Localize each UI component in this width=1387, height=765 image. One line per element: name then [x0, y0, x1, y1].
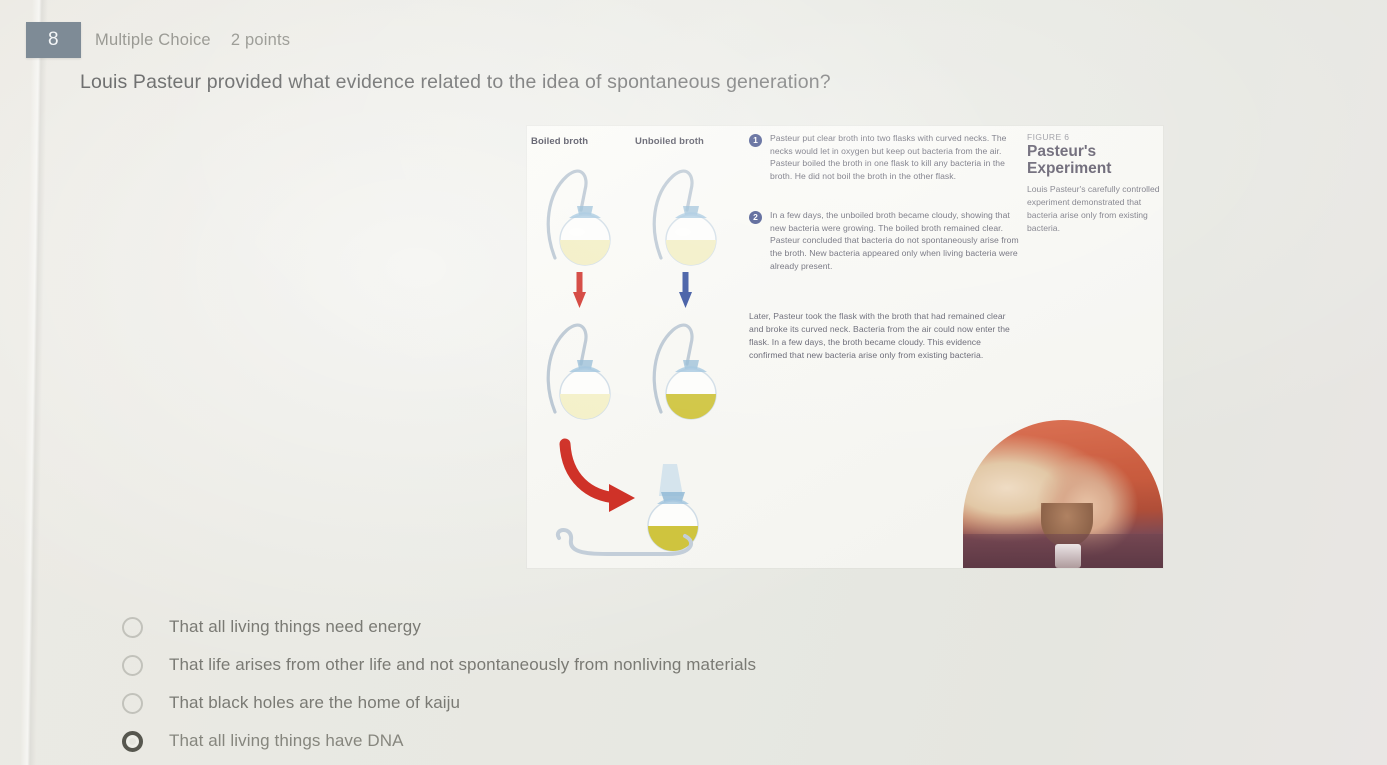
arrow-down-red-icon — [573, 272, 586, 308]
answer-option-1[interactable]: That all living things need energy — [118, 608, 1018, 646]
question-header: 8 Multiple Choice 2 points — [26, 22, 290, 58]
figure-caption-text: Louis Pasteur's carefully controlled exp… — [1027, 183, 1163, 235]
figure-caption-column: FIGURE 6 Pasteur's Experiment Louis Past… — [1027, 132, 1163, 235]
figure-eyebrow: FIGURE 6 — [1027, 132, 1163, 142]
figure-step-3: Later, Pasteur took the flask with the b… — [749, 310, 1019, 361]
label-boiled-broth: Boiled broth — [531, 136, 588, 147]
radio-button-2[interactable] — [122, 655, 143, 676]
figure-steps-column: 1 Pasteur put clear broth into two flask… — [749, 132, 1019, 379]
radio-button-1[interactable] — [122, 617, 143, 638]
portrait-glassware — [1055, 544, 1081, 568]
pasteur-portrait-photo — [963, 420, 1163, 568]
figure-image[interactable]: Boiled broth Unboiled broth — [527, 126, 1163, 568]
question-prompt: Louis Pasteur provided what evidence rel… — [80, 71, 831, 94]
question-number-badge: 8 — [26, 22, 81, 58]
radio-button-3[interactable] — [122, 693, 143, 714]
flask-diagram-row-1 — [537, 154, 752, 274]
answer-option-3[interactable]: That black holes are the home of kaiju — [118, 684, 1018, 722]
radio-button-4[interactable] — [122, 731, 143, 752]
answer-option-1-label: That all living things need energy — [169, 617, 421, 637]
label-unboiled-broth: Unboiled broth — [635, 136, 704, 147]
question-meta: Multiple Choice 2 points — [95, 31, 290, 50]
step-number-1: 1 — [749, 134, 762, 147]
broken-neck-piece — [551, 524, 711, 566]
answer-option-2[interactable]: That life arises from other life and not… — [118, 646, 1018, 684]
step-text-1: Pasteur put clear broth into two flasks … — [770, 132, 1019, 183]
figure-step-2: 2 In a few days, the unboiled broth beca… — [749, 209, 1019, 273]
figure-heading: Pasteur's Experiment — [1027, 144, 1163, 177]
answer-option-3-label: That black holes are the home of kaiju — [169, 693, 460, 713]
answer-option-4[interactable]: That all living things have DNA — [118, 722, 1018, 760]
question-type-label: Multiple Choice — [95, 31, 211, 50]
arrow-down-blue-icon — [679, 272, 692, 308]
answer-options-list: That all living things need energy That … — [118, 608, 1018, 760]
figure-step-1: 1 Pasteur put clear broth into two flask… — [749, 132, 1019, 183]
step-number-2: 2 — [749, 211, 762, 224]
answer-option-2-label: That life arises from other life and not… — [169, 655, 756, 675]
question-points-label: 2 points — [231, 31, 290, 50]
figure-diagram-column: Boiled broth Unboiled broth — [537, 126, 752, 568]
step-text-2: In a few days, the unboiled broth became… — [770, 209, 1019, 273]
step-text-3: Later, Pasteur took the flask with the b… — [749, 310, 1019, 361]
answer-option-4-label: That all living things have DNA — [169, 731, 404, 751]
flask-diagram-row-2 — [537, 304, 752, 429]
